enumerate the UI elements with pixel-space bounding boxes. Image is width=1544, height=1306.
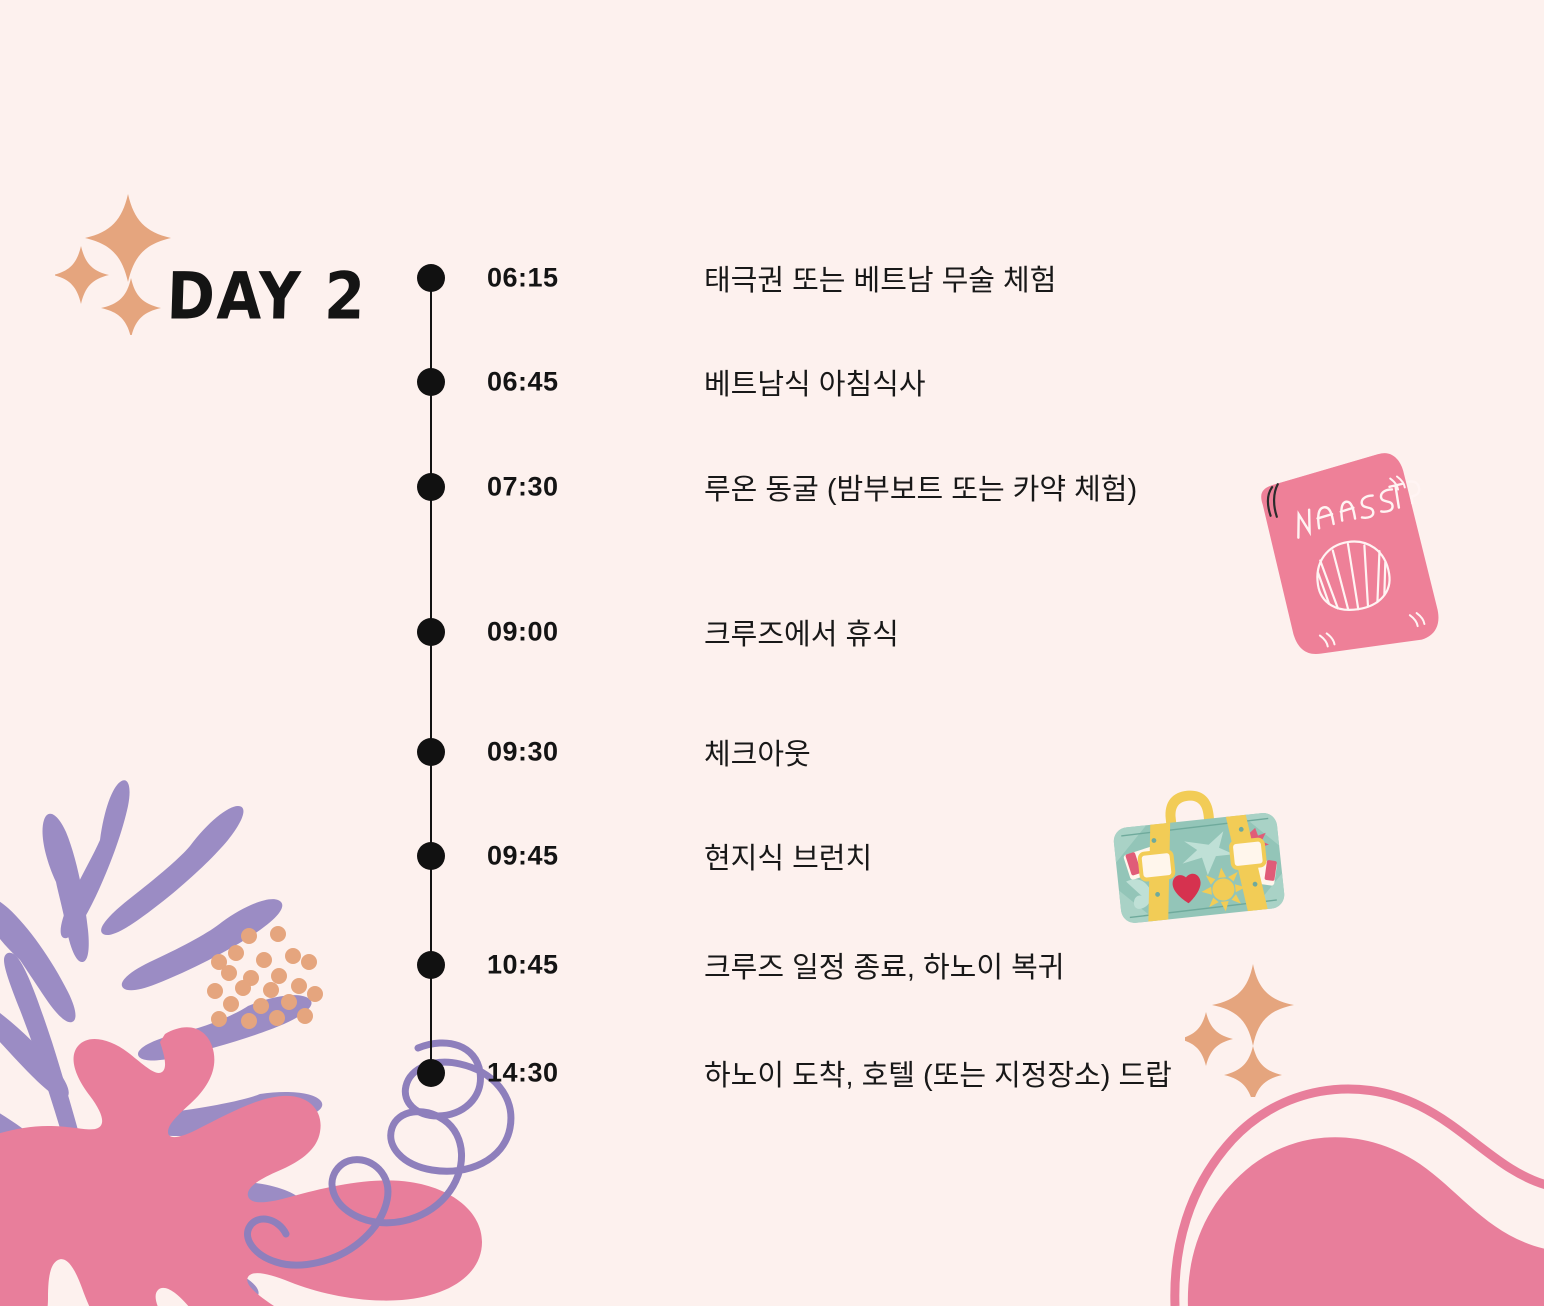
timeline-time: 09:30 [487, 737, 559, 768]
timeline-description: 크루즈 일정 종료, 하노이 복귀 [704, 944, 1064, 986]
timeline-time: 10:45 [487, 950, 559, 981]
timeline-dot [417, 473, 445, 501]
timeline-description: 하노이 도착, 호텔 (또는 지정장소) 드랍 [704, 1052, 1172, 1094]
timeline-time: 07:30 [487, 472, 559, 503]
timeline-dot [417, 738, 445, 766]
timeline-description: 크루즈에서 휴식 [704, 611, 899, 653]
timeline-dot [417, 1059, 445, 1087]
timeline-description: 태극권 또는 베트남 무술 체험 [704, 257, 1056, 299]
timeline-time: 14:30 [487, 1058, 559, 1089]
itinerary-canvas: DAY 2 06:15 태극권 또는 베트남 무술 체험 06:45 베트남식 … [0, 0, 1544, 1306]
timeline-description: 베트남식 아침식사 [704, 361, 926, 403]
timeline: 06:15 태극권 또는 베트남 무술 체험 06:45 베트남식 아침식사 0… [0, 0, 1544, 1306]
timeline-description: 현지식 브런치 [704, 835, 872, 877]
timeline-time: 09:00 [487, 617, 559, 648]
timeline-dot [417, 618, 445, 646]
timeline-time: 06:15 [487, 263, 559, 294]
timeline-description: 루온 동굴 (밤부보트 또는 카약 체험) [704, 466, 1137, 508]
timeline-dot [417, 951, 445, 979]
timeline-time: 06:45 [487, 367, 559, 398]
timeline-time: 09:45 [487, 841, 559, 872]
timeline-dot [417, 264, 445, 292]
timeline-description: 체크아웃 [704, 731, 811, 773]
timeline-dot [417, 368, 445, 396]
timeline-dot [417, 842, 445, 870]
